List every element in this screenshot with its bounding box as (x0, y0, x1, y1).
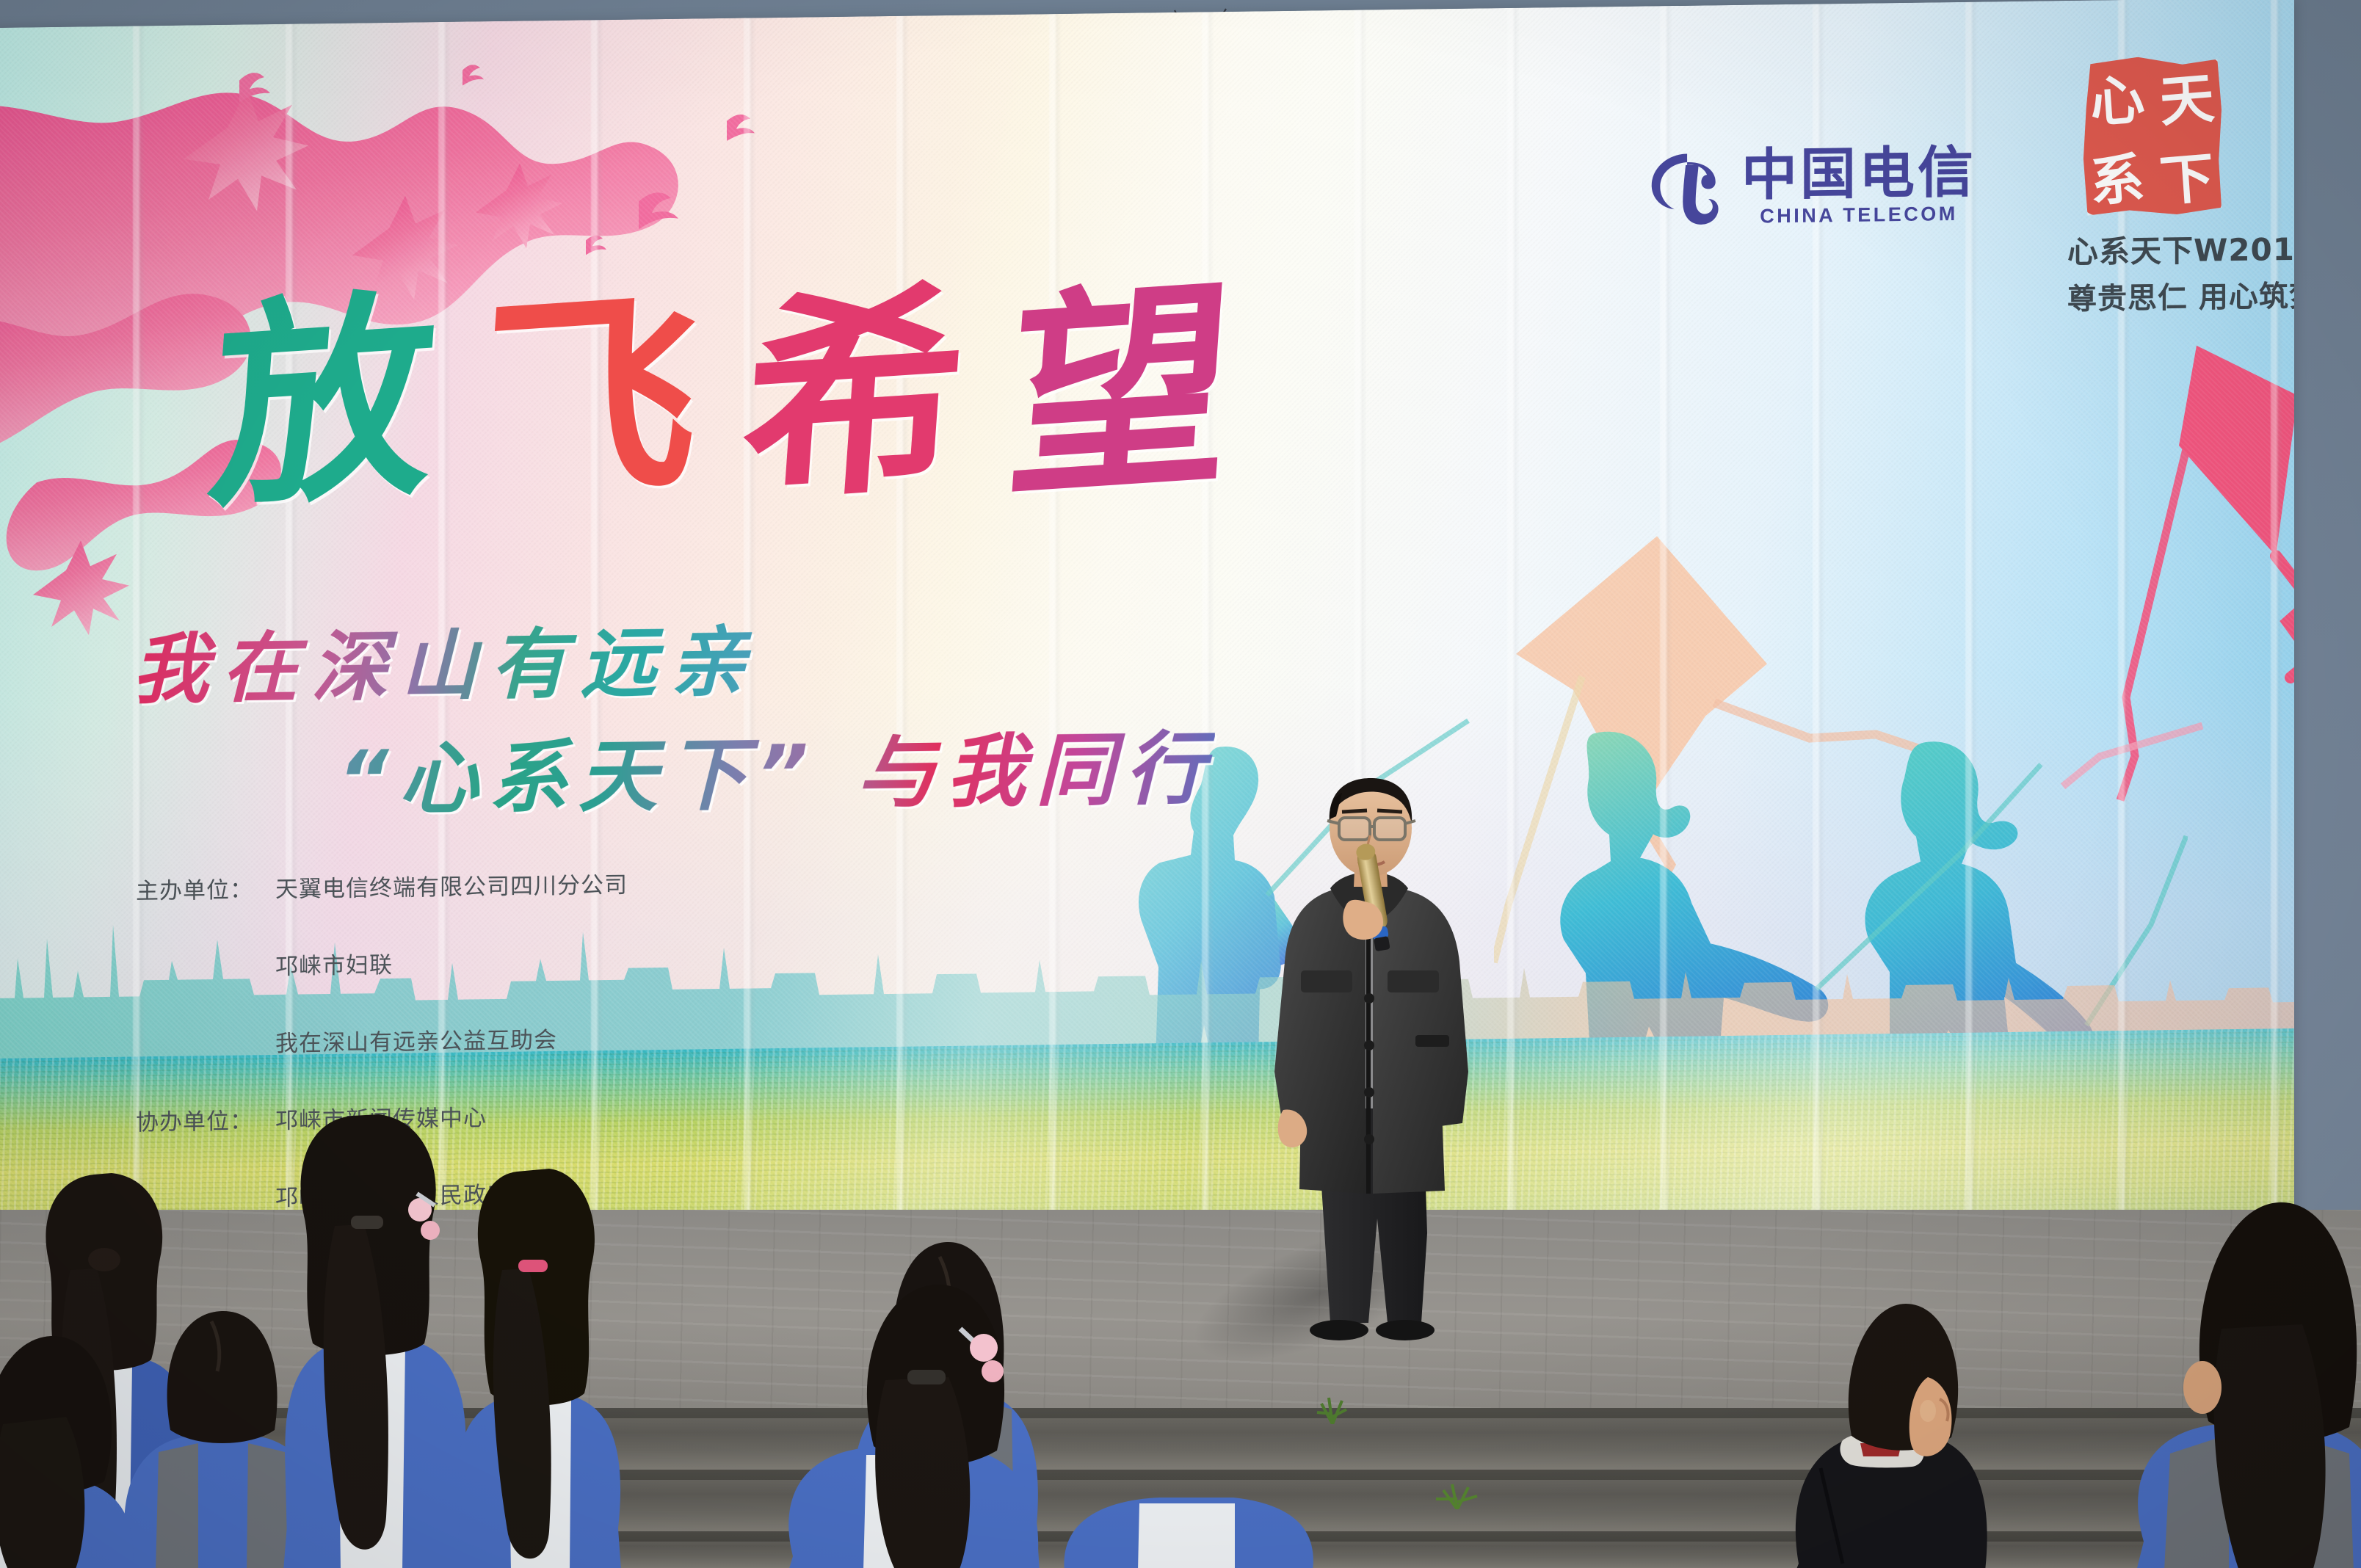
banner-subtitle-1: 我在深山有远亲 (132, 599, 759, 718)
banner-main-title: 放 飞 希 望 (213, 282, 1230, 515)
seal-char-3: 系 (2079, 134, 2154, 218)
credit-value: 天翼电信终端有限公司四川分公司 (275, 873, 628, 903)
china-telecom-cn: 中国电信 (1741, 146, 1976, 202)
xinxitianxia-seal-logo: 心 天 系 下 心系天下W2017 尊贵思仁 用心筑梦 (2067, 56, 2236, 318)
china-telecom-mark-icon (1646, 146, 1731, 233)
speaker-person (1248, 778, 1490, 1343)
weed-icon (1417, 1468, 1498, 1509)
weed-icon (1299, 1380, 1366, 1424)
red-seal-icon: 心 天 系 下 (2082, 56, 2222, 215)
title-char-1: 放 (205, 286, 442, 521)
photo-scene: 放 飞 希 望 我在深山有远亲 “心系天下” 与我同行 主办单位：天翼电信终端有… (0, 0, 2361, 1568)
seal-char-2: 天 (2149, 54, 2224, 138)
title-char-2: 飞 (471, 283, 708, 518)
china-telecom-logo: 中国电信 CHINA TELECOM (1646, 143, 1976, 233)
title-char-3: 希 (736, 280, 973, 515)
seal-characters: 心 天 系 下 (2082, 56, 2222, 215)
seal-slogan-line-2: 尊贵思仁 用心筑梦 (2067, 273, 2236, 318)
china-telecom-wordmark: 中国电信 CHINA TELECOM (1741, 146, 1976, 228)
student-back-view (1050, 1424, 1329, 1568)
student-back-view (764, 1241, 1087, 1568)
title-char-4: 望 (1002, 276, 1239, 511)
china-telecom-en: CHINA TELECOM (1760, 203, 1958, 228)
student-leather-jacket (1755, 1226, 2004, 1568)
banner-subtitle-2: “心系天下” 与我同行 (338, 705, 1215, 831)
credit-row: 主办单位：天翼电信终端有限公司四川分公司 (136, 868, 1005, 905)
credit-value: 邛崃市妇联 (275, 953, 393, 980)
student-back-view (426, 1123, 646, 1568)
student-back-view (0, 1307, 147, 1568)
seal-char-1: 心 (2079, 54, 2154, 139)
credit-label (136, 954, 275, 981)
student-back-view (2100, 1145, 2361, 1568)
seal-char-4: 下 (2149, 133, 2224, 217)
credit-label: 主办单位： (136, 877, 275, 904)
seal-slogan-line-1: 心系天下W2017 (2067, 225, 2236, 272)
credit-row: 邛崃市妇联 (136, 945, 1005, 982)
